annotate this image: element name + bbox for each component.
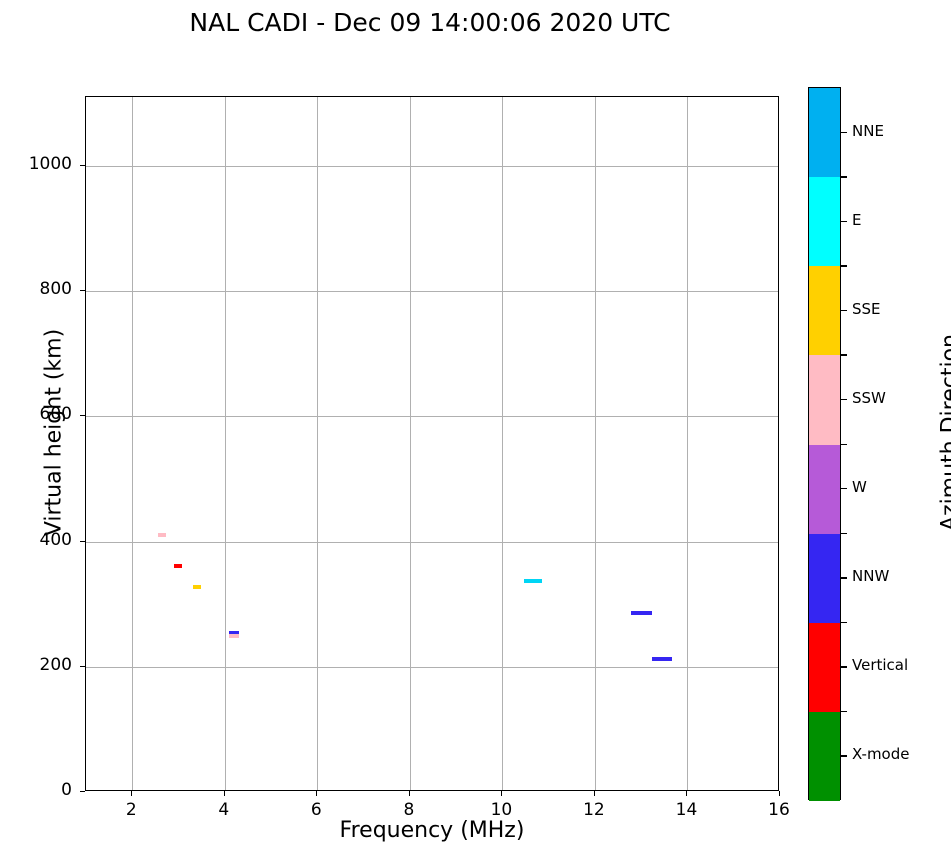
x-axis-tick-label: 14 [656,800,716,820]
colorbar-segment-nne [809,88,840,177]
colorbar-tick [841,132,847,133]
colorbar-boundary-tick [841,265,847,266]
y-axis-tick [80,791,85,792]
x-axis-tick [779,791,780,796]
x-axis-tick-label: 8 [379,800,439,820]
x-axis-tick [131,791,132,796]
colorbar-label-w: W [852,478,867,496]
echo-trace [524,579,542,583]
colorbar-segment-vertical [809,623,840,712]
echo-trace [229,634,240,638]
colorbar-title: Azimuth Direction [938,273,951,593]
x-axis-tick [686,791,687,796]
colorbar-tick [841,221,847,222]
x-axis-tick [501,791,502,796]
y-axis-tick-label: 1000 [2,154,72,174]
colorbar-segment-e [809,177,840,266]
colorbar-tick [841,666,847,667]
colorbar-tick [841,399,847,400]
colorbar-boundary-tick [841,711,847,712]
colorbar-segment-ssw [809,355,840,444]
echo-trace [631,611,652,615]
echo-trace [652,657,672,661]
colorbar-boundary-tick [841,176,847,177]
x-axis-tick-label: 2 [101,800,161,820]
x-axis-tick-label: 6 [286,800,346,820]
colorbar-label-vertical: Vertical [852,656,908,674]
colorbar-tick [841,488,847,489]
x-axis-tick-label: 12 [564,800,624,820]
x-axis-tick [224,791,225,796]
colorbar-tick [841,577,847,578]
y-axis-tick [80,165,85,166]
colorbar-segment-w [809,445,840,534]
x-axis-tick-label: 4 [194,800,254,820]
y-axis-label: Virtual height (km) [42,283,67,583]
colorbar-boundary-tick [841,622,847,623]
colorbar-label-ssw: SSW [852,389,886,407]
y-axis-tick-label: 200 [2,655,72,675]
y-axis-tick [80,541,85,542]
colorbar [808,87,841,800]
colorbar-label-x-mode: X-mode [852,745,909,763]
data-layer [86,97,778,790]
echo-trace [193,585,201,589]
colorbar-label-nne: NNE [852,122,884,140]
colorbar-segment-sse [809,266,840,355]
colorbar-boundary-tick [841,354,847,355]
colorbar-label-nnw: NNW [852,567,889,585]
colorbar-tick [841,310,847,311]
y-axis-tick-label: 0 [2,780,72,800]
x-axis-tick [594,791,595,796]
colorbar-segment-x-mode [809,712,840,801]
colorbar-label-e: E [852,211,861,229]
x-axis-tick [316,791,317,796]
x-axis-label: Frequency (MHz) [85,818,779,843]
x-axis-tick-label: 10 [471,800,531,820]
x-axis-tick-label: 16 [749,800,809,820]
y-axis-tick [80,415,85,416]
plot-area [85,96,779,791]
colorbar-segment-nnw [809,534,840,623]
page-title: NAL CADI - Dec 09 14:00:06 2020 UTC [0,8,860,37]
echo-trace [174,564,182,568]
ionogram-figure: NAL CADI - Dec 09 14:00:06 2020 UTC 2468… [0,0,951,856]
y-axis-tick [80,290,85,291]
colorbar-label-sse: SSE [852,300,881,318]
colorbar-tick [841,755,847,756]
echo-trace [158,533,166,537]
y-axis-tick [80,666,85,667]
colorbar-boundary-tick [841,444,847,445]
x-axis-tick [409,791,410,796]
colorbar-boundary-tick [841,533,847,534]
